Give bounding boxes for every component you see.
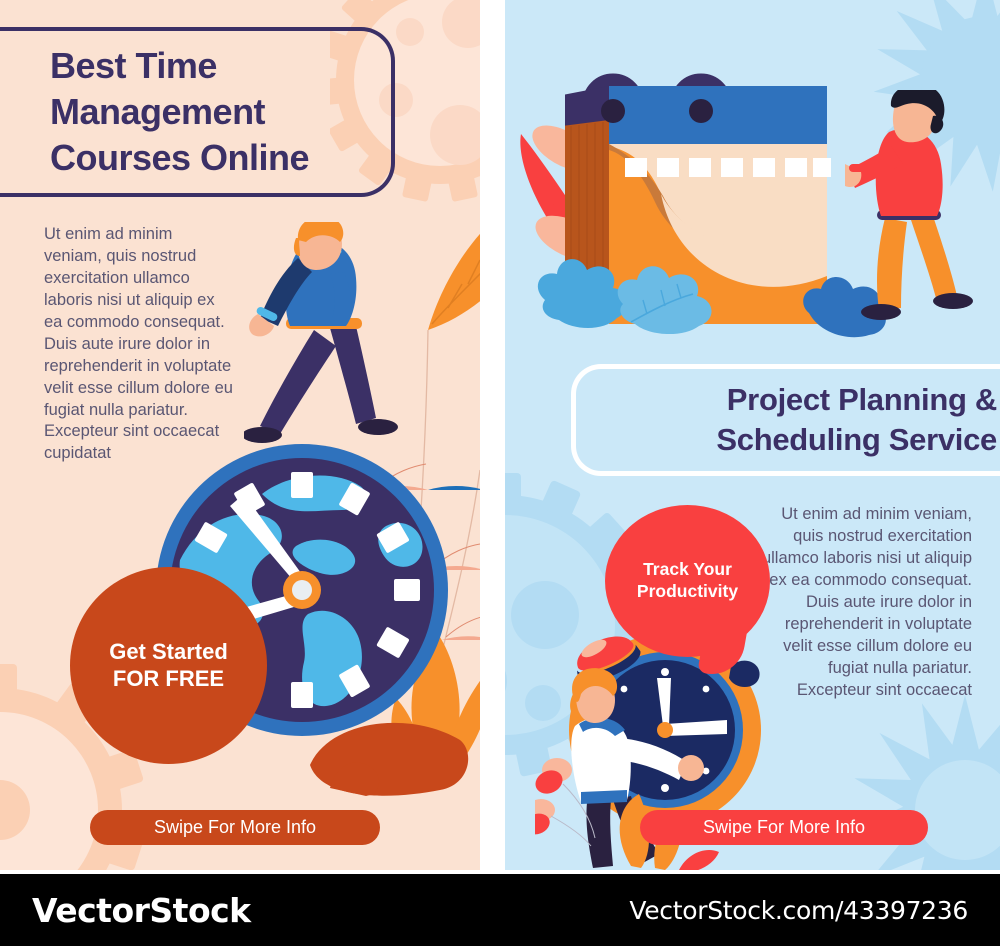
cta-circle-line2: FOR FREE: [113, 666, 224, 693]
swipe-right-label: Swipe For More Info: [703, 817, 865, 838]
right-panel-body-text: Ut enim ad minim veniam, quis nostrud ex…: [757, 504, 972, 701]
right-poster-panel: Project Planning & Scheduling Service Ut…: [505, 0, 1000, 870]
left-panel-body-text: Ut enim ad minim veniam, quis nostrud ex…: [44, 224, 234, 465]
bubble-line1: Track Your: [643, 559, 732, 581]
swipe-left-label: Swipe For More Info: [154, 817, 316, 838]
blue-oak-leaf-decoration: [525, 238, 745, 348]
left-poster-panel: Best Time Management Courses Online Ut e…: [0, 0, 480, 870]
swipe-for-more-info-button-right[interactable]: Swipe For More Info: [640, 810, 928, 845]
right-panel-title-box: Project Planning & Scheduling Service: [571, 364, 1000, 476]
orange-leaf: [428, 200, 480, 330]
walking-man-illustration: [244, 222, 414, 452]
cta-circle-line1: Get Started: [109, 639, 228, 666]
vectorstock-url: VectorStock.com/43397236: [629, 896, 968, 925]
left-panel-title: Best Time Management Courses Online: [50, 43, 309, 181]
bubble-line2: Productivity: [637, 581, 738, 603]
track-productivity-bubble[interactable]: Track Your Productivity: [605, 505, 770, 657]
vectorstock-logo: VectorStock: [32, 891, 251, 930]
right-panel-title: Project Planning & Scheduling Service: [716, 380, 997, 461]
watermark-footer: VectorStock VectorStock.com/43397236: [0, 874, 1000, 946]
man-holding-calendar-illustration: [845, 90, 985, 340]
left-panel-title-box: Best Time Management Courses Online: [0, 27, 395, 197]
get-started-cta-circle[interactable]: Get Started FOR FREE: [70, 567, 267, 764]
swipe-for-more-info-button-left[interactable]: Swipe For More Info: [90, 810, 380, 845]
poster-canvas: Best Time Management Courses Online Ut e…: [0, 0, 1000, 946]
